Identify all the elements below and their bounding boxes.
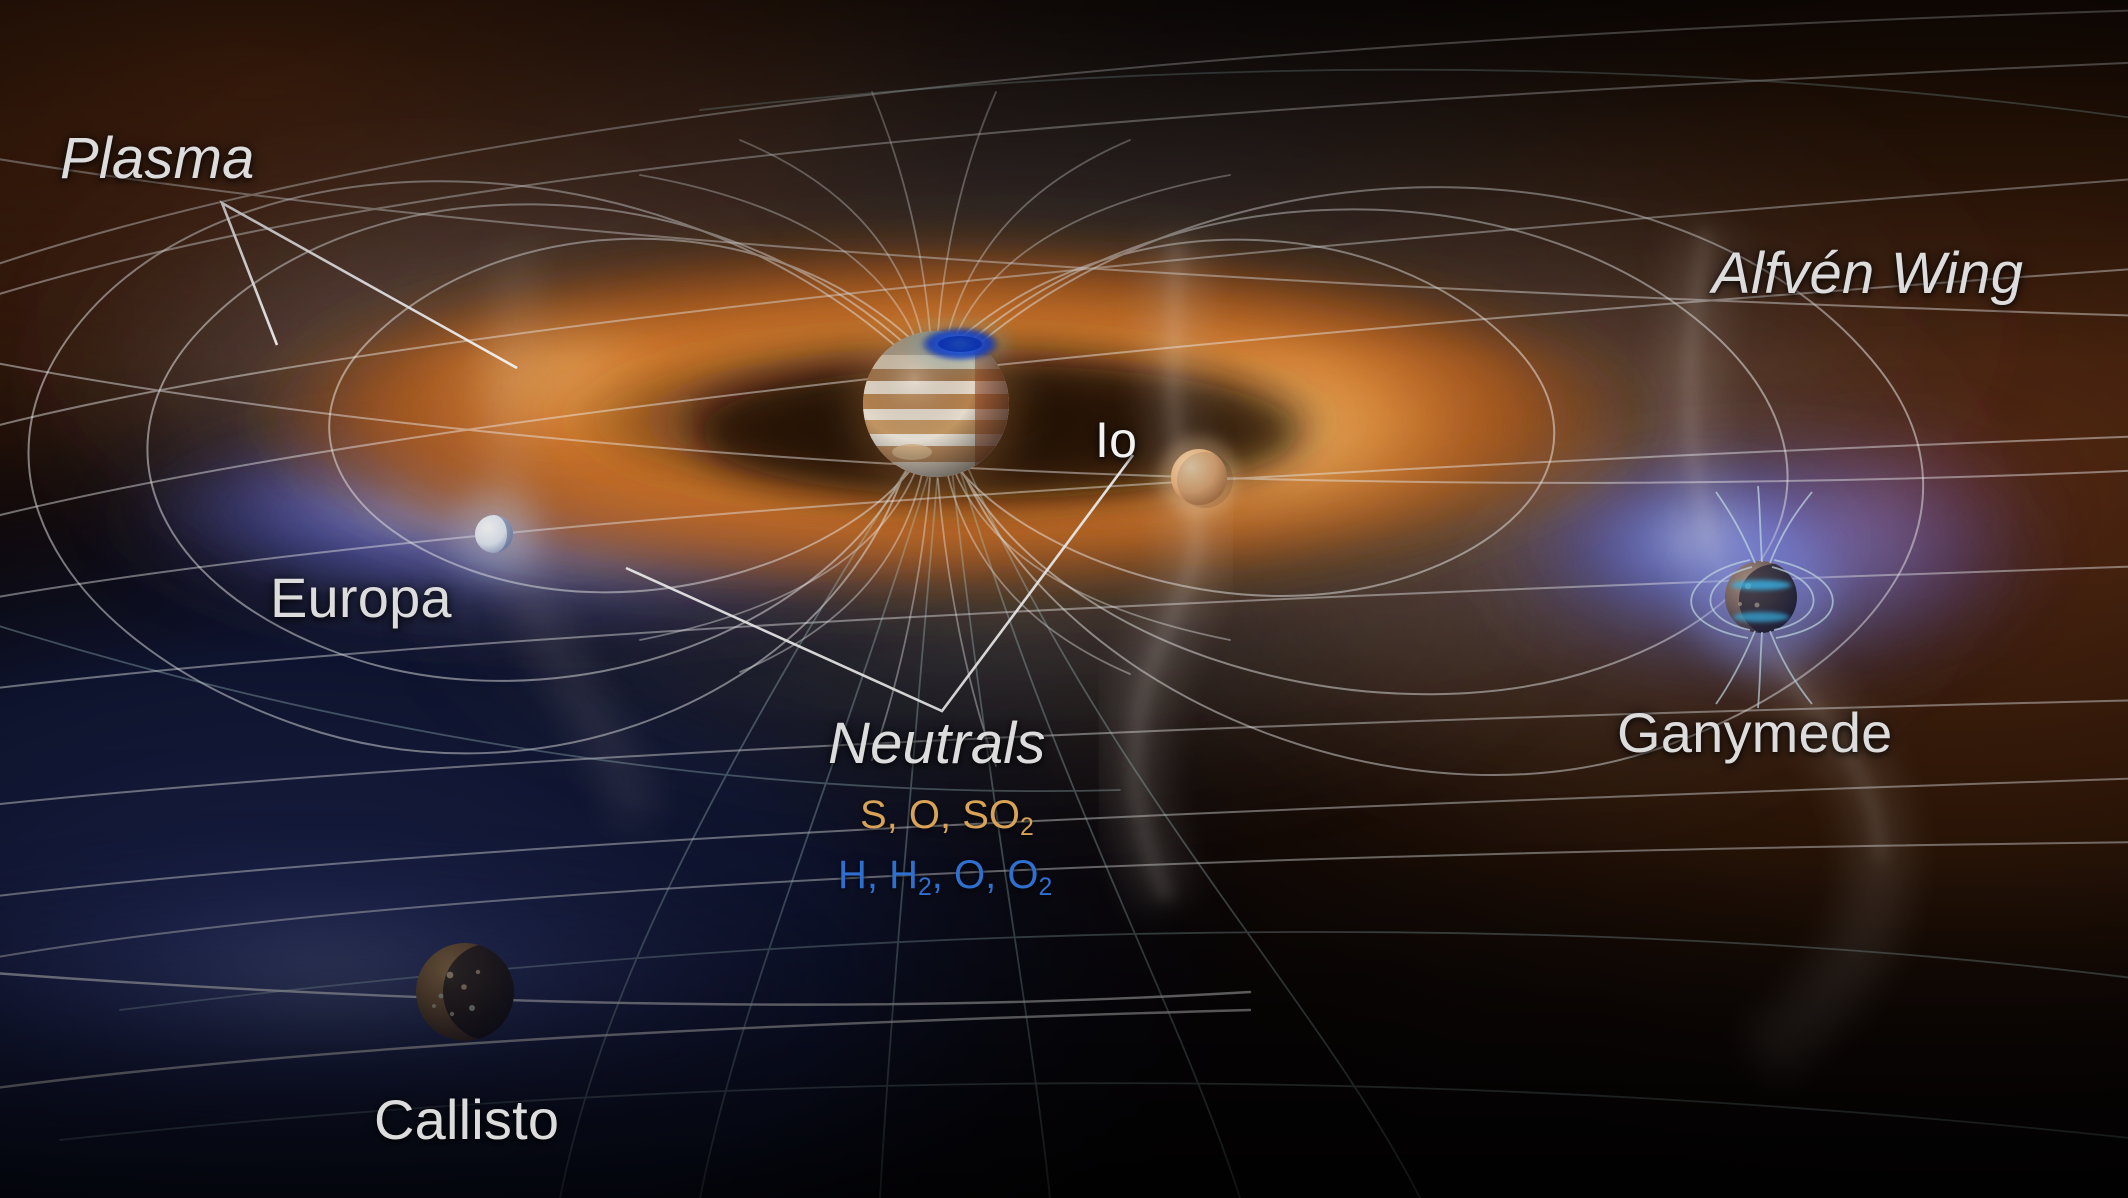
sulfur-species-subscript: 2 bbox=[1020, 814, 1034, 841]
jupiter-magnetosphere-diagram: Plasma Alfvén Wing Io Europa Ganymede Ca… bbox=[0, 0, 2128, 1198]
neutrals-label: Neutrals bbox=[828, 715, 1046, 773]
ganymede-label: Ganymede bbox=[1617, 705, 1893, 761]
europa-label: Europa bbox=[270, 570, 452, 626]
sulfur-species-label: S, O, SO2 bbox=[860, 795, 1034, 841]
io-label: Io bbox=[1095, 415, 1137, 465]
plasma-label: Plasma bbox=[60, 130, 255, 188]
sulfur-species-text: S, O, SO bbox=[860, 793, 1020, 837]
hydrogen-species-text-2: , O, O bbox=[932, 853, 1039, 897]
alfven-wing-label: Alfvén Wing bbox=[1712, 245, 2023, 303]
hydrogen-species-subscript-1: 2 bbox=[918, 874, 932, 901]
hydrogen-species-subscript-2: 2 bbox=[1038, 874, 1052, 901]
callisto-label: Callisto bbox=[374, 1092, 559, 1148]
hydrogen-species-label: H, H2, O, O2 bbox=[838, 855, 1052, 901]
hydrogen-species-text-1: H, H bbox=[838, 853, 918, 897]
